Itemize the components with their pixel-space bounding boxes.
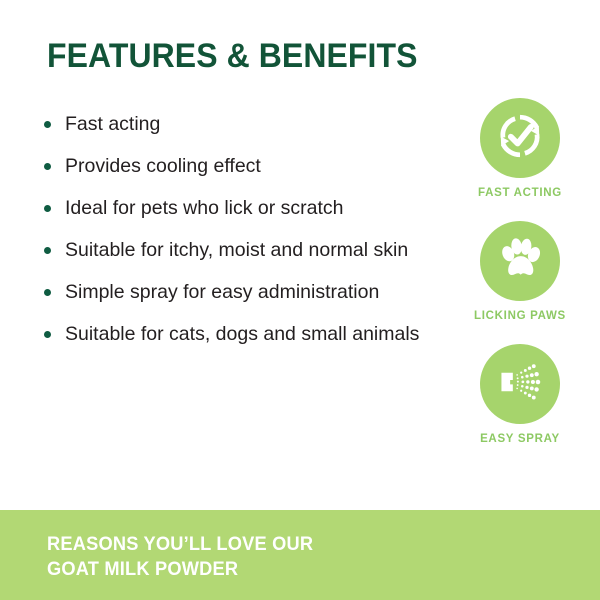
product-features-panel: FEATURES & BENEFITS Fast acting Provides… [0,0,600,600]
refresh-check-icon [492,108,548,169]
bullet-dot-icon [44,121,51,128]
page-title: FEATURES & BENEFITS [47,36,418,76]
features-list: Fast acting Provides cooling effect Idea… [42,112,442,347]
badge-label: EASY SPRAY [456,433,584,445]
bullet-dot-icon [44,163,51,170]
list-item: Provides cooling effect [42,154,442,179]
list-item: Simple spray for easy administration [42,280,442,305]
badge-label: LICKING PAWS [456,310,584,322]
list-item: Fast acting [42,112,442,137]
list-item: Suitable for cats, dogs and small animal… [42,322,442,347]
badge-fast-acting: FAST ACTING [456,98,584,199]
banner-line-2: GOAT MILK POWDER [47,557,313,582]
bullet-dot-icon [44,331,51,338]
banner-line-1: REASONS YOU’LL LOVE OUR [47,532,313,557]
feature-text: Simple spray for easy administration [65,281,379,303]
benefit-badges: FAST ACTING LICKING PAWS [456,98,584,445]
badge-label: FAST ACTING [456,187,584,199]
list-item: Ideal for pets who lick or scratch [42,196,442,221]
feature-text: Suitable for cats, dogs and small animal… [65,323,419,345]
feature-text: Fast acting [65,113,160,135]
bullet-dot-icon [44,205,51,212]
badge-circle [480,221,560,301]
feature-text: Suitable for itchy, moist and normal ski… [65,239,408,261]
spray-nozzle-icon [493,355,547,414]
badge-easy-spray: EASY SPRAY [456,344,584,445]
bullet-dot-icon [44,289,51,296]
badge-licking-paws: LICKING PAWS [456,221,584,322]
banner-heading: REASONS YOU’LL LOVE OUR GOAT MILK POWDER [47,532,313,582]
feature-text: Provides cooling effect [65,155,261,177]
bottom-banner: REASONS YOU’LL LOVE OUR GOAT MILK POWDER [0,510,600,600]
feature-text: Ideal for pets who lick or scratch [65,197,344,219]
badge-circle [480,344,560,424]
bullet-dot-icon [44,247,51,254]
list-item: Suitable for itchy, moist and normal ski… [42,238,442,263]
badge-circle [480,98,560,178]
paw-print-icon [494,233,546,290]
